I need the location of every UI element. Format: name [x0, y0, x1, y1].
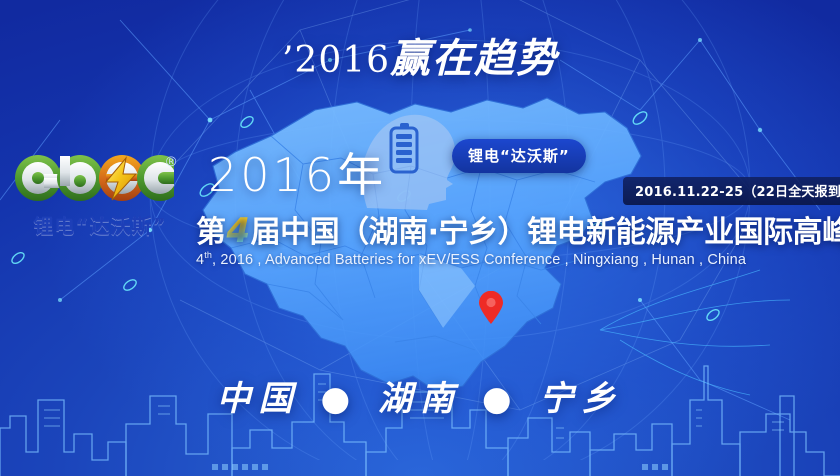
top-slogan-text: 赢在趋势	[390, 35, 558, 82]
abec-logo-subtitle: 锂电“达沃斯”	[14, 210, 186, 239]
event-title-cn: 第4届中国（湖南·宁乡）锂电新能源产业国际高峰论坛	[196, 207, 840, 251]
title-suffix: 届中国（湖南·宁乡）锂电新能源产业国际高峰论坛	[251, 215, 840, 250]
event-year: 2016年	[208, 152, 386, 198]
map-pin-icon	[478, 291, 504, 325]
title-en-ordinal: 4	[196, 252, 204, 268]
edition-number: 4	[226, 211, 251, 251]
top-slogan-year: ’2016	[282, 40, 390, 81]
abec-wordmark-icon: ®	[14, 152, 174, 204]
conference-poster: ’2016赢在趋势	[0, 0, 840, 476]
title-en-rest: , 2016 , Advanced Batteries for xEV/ESS …	[212, 252, 746, 268]
title-en-ordinal-suffix: th	[204, 250, 212, 260]
davos-pill-badge: 锂电“达沃斯”	[452, 139, 586, 173]
abec-logo: ® 锂电“达沃斯”	[14, 152, 194, 248]
event-date-badge: 2016.11.22-25（22日全天报到）	[623, 177, 840, 205]
registered-trademark-icon: ®	[166, 154, 176, 168]
title-prefix: 第	[196, 215, 226, 250]
event-location-line: 中国 ● 湖南 ● 宁乡	[0, 371, 840, 420]
event-title-en: 4th, 2016 , Advanced Batteries for xEV/E…	[196, 250, 746, 268]
top-slogan: ’2016赢在趋势	[0, 26, 840, 84]
